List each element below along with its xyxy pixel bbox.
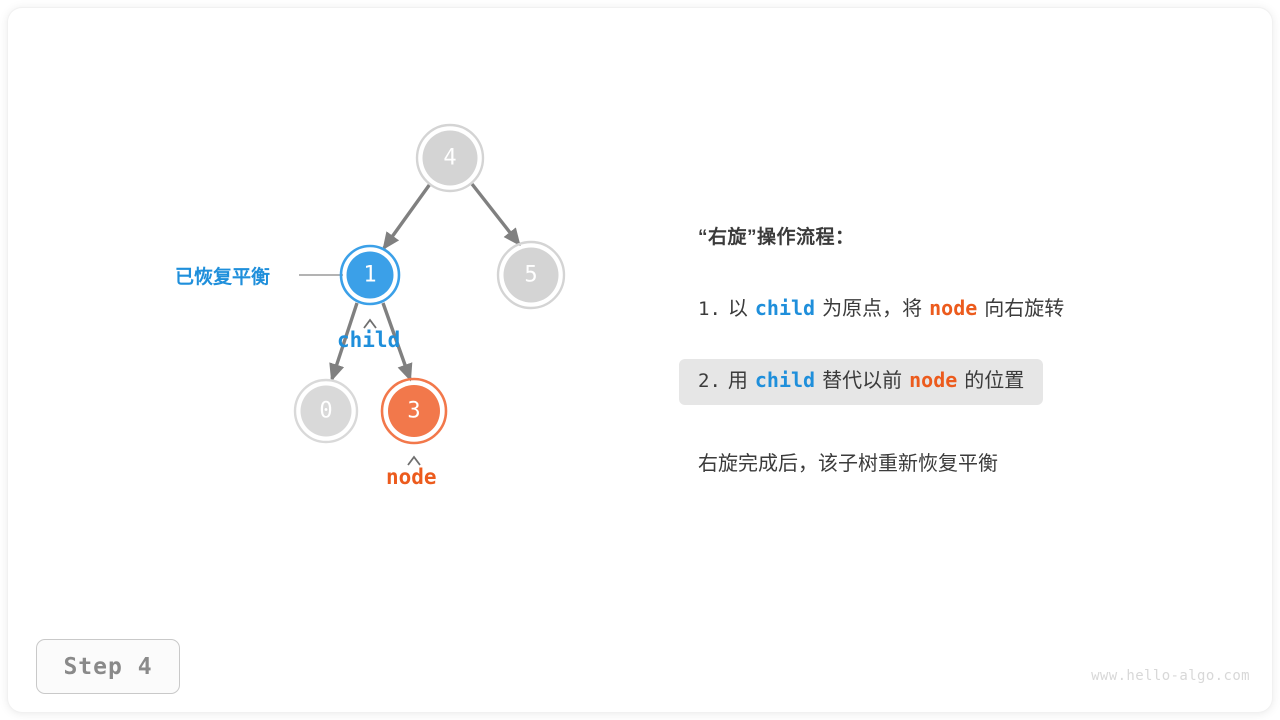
step-2-text-part-3: 的位置 bbox=[964, 370, 1024, 392]
illustration-canvas: 4 5 0 1 3 child node 已 bbox=[0, 0, 1280, 720]
node-annotation-label: node bbox=[386, 465, 437, 489]
tree-node-0-value: 0 bbox=[319, 399, 332, 424]
step-1-text-part-1: 以 bbox=[728, 298, 748, 320]
step-1-text-part-3: 向右旋转 bbox=[984, 298, 1064, 320]
tree-node-3: 3 bbox=[382, 379, 446, 443]
tree-node-5: 5 bbox=[498, 242, 564, 308]
panel-title: “右旋”操作流程： bbox=[698, 222, 1218, 249]
node-caret-icon bbox=[408, 457, 420, 465]
tree-node-4: 4 bbox=[417, 125, 483, 191]
closing-note: 右旋完成后，该子树重新恢复平衡 bbox=[698, 447, 1218, 476]
tree-node-1-value: 1 bbox=[363, 263, 376, 288]
step-2-text-part-1: 用 bbox=[728, 370, 748, 392]
step-1-text-part-2: 为原点，将 bbox=[822, 298, 922, 320]
child-caret-icon bbox=[364, 320, 376, 328]
step-item-1: 1.以child为原点，将node向右旋转 bbox=[679, 287, 1083, 333]
edge-4-to-5 bbox=[472, 184, 519, 244]
tree-node-5-value: 5 bbox=[524, 263, 537, 288]
step-2-index: 2. bbox=[698, 370, 721, 392]
balanced-annotation-label: 已恢复平衡 bbox=[175, 262, 270, 289]
step-2-keyword-child: child bbox=[755, 368, 815, 392]
tree-node-0: 0 bbox=[295, 380, 357, 442]
step-1-keyword-node: node bbox=[929, 296, 977, 320]
child-annotation-label: child bbox=[337, 328, 400, 352]
edge-4-to-1 bbox=[384, 184, 430, 248]
step-2-keyword-node: node bbox=[909, 368, 957, 392]
tree-node-4-value: 4 bbox=[443, 146, 456, 171]
step-2-text-part-2: 替代以前 bbox=[822, 370, 902, 392]
tree-node-3-value: 3 bbox=[407, 399, 420, 424]
tree-node-1: 1 bbox=[341, 246, 399, 304]
operation-description-panel: “右旋”操作流程： 1.以child为原点，将node向右旋转 2.用child… bbox=[698, 222, 1218, 476]
step-1-index: 1. bbox=[698, 298, 721, 320]
step-item-2: 2.用child替代以前node的位置 bbox=[679, 359, 1043, 405]
step-1-keyword-child: child bbox=[755, 296, 815, 320]
step-badge: Step 4 bbox=[36, 639, 180, 694]
watermark: www.hello-algo.com bbox=[1091, 668, 1250, 684]
